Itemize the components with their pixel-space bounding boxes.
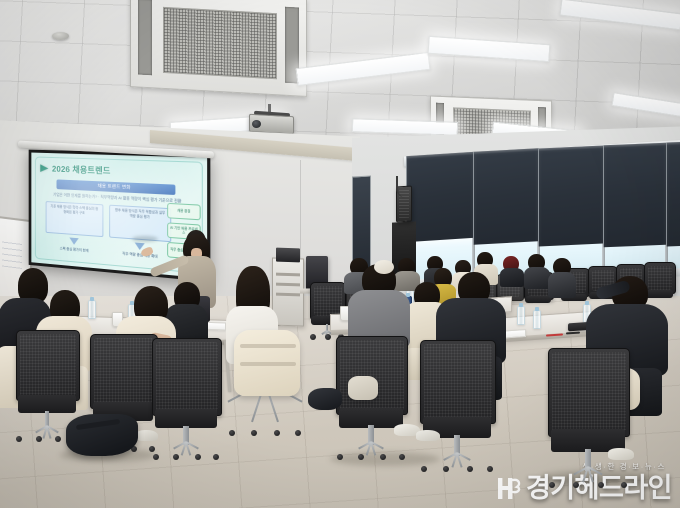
hair-scrunchie [374,260,394,274]
chair-caster [399,454,405,460]
floor-bag[interactable] [308,388,342,410]
chair-caster [251,430,257,436]
photo-canvas: 2026 채용트렌드 채용 트렌드 변화 기업은 어떤 인재를 원하는가? · … [0,0,680,508]
chair-seat [525,296,551,303]
chair-caster [310,334,316,340]
ceiling-ac-cassette-1 [130,0,307,97]
chair-caster [549,482,555,488]
pointer-shadow [132,236,158,242]
backpack-strap [76,419,120,430]
chair-caster [55,436,61,442]
chair-caster [173,454,179,460]
chair-caster [443,466,449,472]
attendee-top [548,272,576,298]
chair-caster [295,430,301,436]
chair-caster [36,436,42,442]
chair-caster [598,482,604,488]
office-chair[interactable] [548,348,628,488]
window-blind[interactable] [473,148,539,245]
projector-lens [252,120,261,128]
tote-bag[interactable] [348,376,378,400]
chair-caster [153,454,159,460]
slide-header-bar-label: 채용 트렌드 변화 [98,183,131,191]
attendee-top [524,267,550,289]
chair-base [155,440,218,460]
chair-back [90,334,158,409]
chair-caster [358,454,364,460]
window-blind[interactable] [538,146,604,247]
chair-caster [380,454,386,460]
smoke-detector [52,32,69,40]
window-blind[interactable] [666,142,680,247]
down-arrow-icon [69,238,78,246]
chair-caster [16,436,22,442]
chair-back [152,338,222,416]
chair-caster [337,454,343,460]
chair-back [420,340,496,424]
office-chair[interactable] [152,338,220,460]
chair-caster [467,466,473,472]
ac-grille [163,7,277,79]
notice-board-content [2,241,22,269]
slide-highlight-box: 채용 환경 [167,203,201,221]
attendee [548,258,576,298]
slide-title: 2026 채용트렌드 [52,163,111,177]
chair-caster [229,430,235,436]
water-bottle[interactable] [533,310,541,329]
shoe [416,430,440,441]
chair-base [423,451,491,472]
chair-back [16,330,80,401]
chair-caster [573,482,579,488]
chair-base [551,466,625,488]
av-monitor [276,248,300,263]
window-blind[interactable] [603,143,667,247]
water-bottle[interactable] [517,306,525,325]
chair-caster [213,454,219,460]
chair-caster [274,430,280,436]
speaker-cable [396,176,408,198]
chair-caster [621,482,627,488]
attendee [524,254,550,288]
ac-vent-left [138,0,152,76]
office-chair[interactable] [420,340,494,472]
slide-content-box: 기존 채용 방식은 학력·스펙 중심의 정형화된 평가 구조 [46,201,104,237]
jacket-seam [240,362,296,366]
h-monogram-logo [496,474,522,502]
shoe [136,430,158,441]
chair-base [339,440,403,460]
chair-caster [421,466,427,472]
window-blind[interactable] [406,152,474,242]
right-arrow-icon [40,164,48,172]
chair-back [336,336,408,415]
jacket-seam [240,344,296,348]
chair-caster [195,454,201,460]
chair-caster [487,466,493,472]
chair-back [548,348,630,437]
shoe [608,448,634,460]
backpack[interactable] [66,414,138,456]
